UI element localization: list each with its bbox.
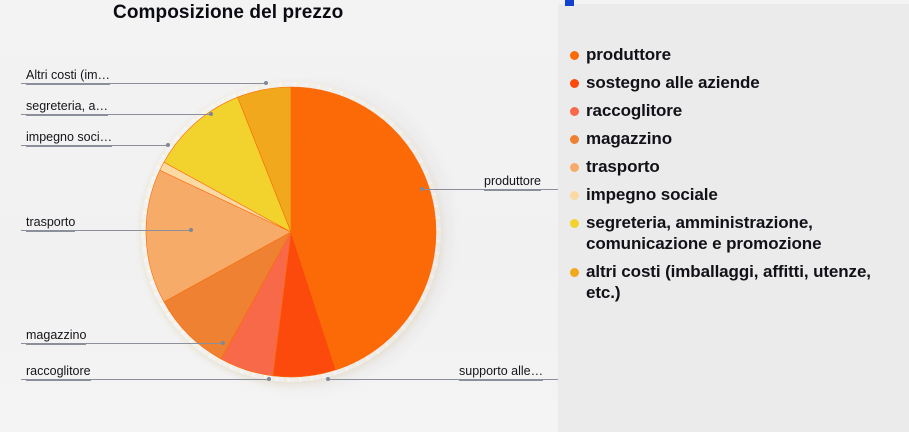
legend-item-label: trasporto xyxy=(586,156,660,177)
legend-bullet-icon xyxy=(570,79,579,88)
callout-label-produttore[interactable]: produttore xyxy=(484,174,541,191)
legend-bullet-icon xyxy=(570,135,579,144)
callout-label-impegno-sociale[interactable]: impegno soci… xyxy=(26,130,112,147)
legend-item[interactable]: sostegno alle aziende xyxy=(570,72,903,93)
legend-item[interactable]: produttore xyxy=(570,44,903,65)
legend-item-label: altri costi (imballaggi, affitti, utenze… xyxy=(586,261,903,303)
legend-bullet-icon xyxy=(570,51,579,60)
legend-item[interactable]: magazzino xyxy=(570,128,903,149)
leader-dot-magazzino xyxy=(221,341,225,345)
callout-label-altri-costi[interactable]: Altri costi (im… xyxy=(26,68,110,85)
leader-dot-produttore xyxy=(420,187,424,191)
legend-bullet-icon xyxy=(570,191,579,200)
legend-panel: produttoresostegno alle azienderaccoglit… xyxy=(558,4,909,432)
leader-dot-segreteria xyxy=(209,112,213,116)
callout-label-segreteria[interactable]: segreteria, a… xyxy=(26,99,108,116)
leader-dot-impegno xyxy=(166,143,170,147)
leader-dot-raccoglitore xyxy=(267,377,271,381)
legend-item-label: raccoglitore xyxy=(586,100,682,121)
legend-item-label: sostegno alle aziende xyxy=(586,72,760,93)
leader-dot-trasporto xyxy=(189,228,193,232)
legend-list: produttoresostegno alle azienderaccoglit… xyxy=(570,44,903,310)
legend-item[interactable]: segreteria, amministrazione, comunicazio… xyxy=(570,212,903,254)
legend-item-label: magazzino xyxy=(586,128,672,149)
legend-item[interactable]: altri costi (imballaggi, affitti, utenze… xyxy=(570,261,903,303)
callout-label-supporto-alle[interactable]: supporto alle… xyxy=(459,364,543,381)
callout-label-trasporto[interactable]: trasporto xyxy=(26,215,75,232)
pie-chart-plot-area: Altri costi (im… segreteria, a… impegno … xyxy=(0,0,558,432)
legend-item-label: produttore xyxy=(586,44,671,65)
legend-bullet-icon xyxy=(570,219,579,228)
legend-bullet-icon xyxy=(570,268,579,277)
leader-dot-altri-costi xyxy=(264,81,268,85)
legend-item[interactable]: impegno sociale xyxy=(570,184,903,205)
legend-item-label: impegno sociale xyxy=(586,184,718,205)
legend-item-label: segreteria, amministrazione, comunicazio… xyxy=(586,212,903,254)
selection-handle[interactable] xyxy=(565,0,574,6)
pie-graphic xyxy=(141,82,441,382)
callout-label-magazzino[interactable]: magazzino xyxy=(26,328,86,345)
callout-label-raccoglitore[interactable]: raccoglitore xyxy=(26,364,91,381)
chart-canvas: Composizione del prezzo Altri costi (im… xyxy=(0,0,909,432)
pie-slice-group xyxy=(146,87,436,377)
legend-bullet-icon xyxy=(570,163,579,172)
legend-item[interactable]: trasporto xyxy=(570,156,903,177)
legend-bullet-icon xyxy=(570,107,579,116)
legend-item[interactable]: raccoglitore xyxy=(570,100,903,121)
leader-dot-supporto xyxy=(326,377,330,381)
pie-slices-svg xyxy=(141,82,441,382)
